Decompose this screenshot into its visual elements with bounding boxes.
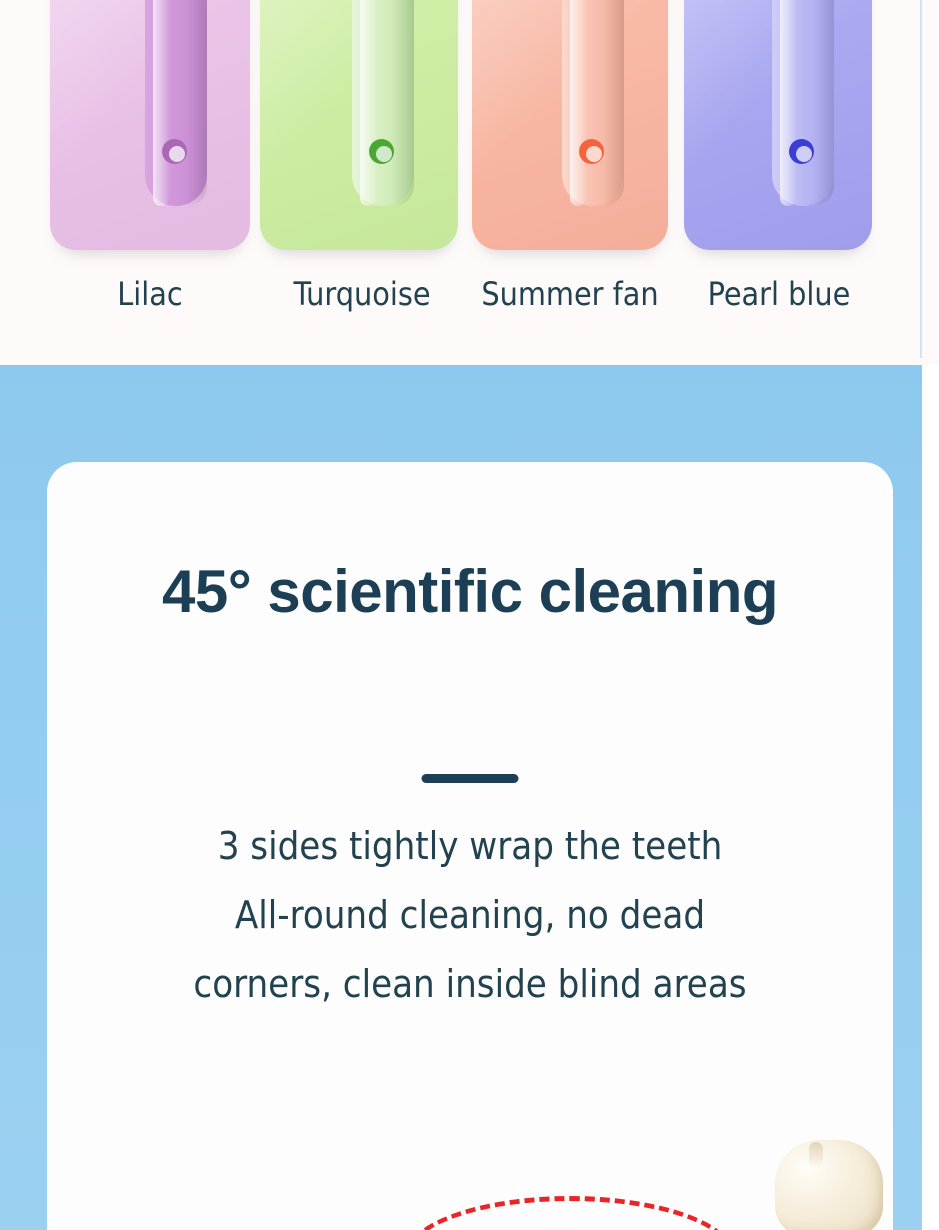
hang-hole <box>789 139 814 164</box>
feature-section: 45° scientific cleaning 3 sides tightly … <box>0 365 939 1230</box>
color-label-turquoise: Turquoise <box>258 272 466 316</box>
feature-card: 45° scientific cleaning 3 sides tightly … <box>47 462 893 1230</box>
handle-highlight <box>153 0 169 206</box>
color-swatch-lilac[interactable]: yalina <box>50 0 250 250</box>
product-photo <box>47 1000 893 1230</box>
color-label-lilac: Lilac <box>50 272 250 316</box>
feature-description: 3 sides tightly wrap the teeth All-round… <box>47 812 893 1019</box>
color-swatch-labels: Lilac Turquoise Summer fan Pearl blue <box>0 272 922 332</box>
color-label-summer-fan: Summer fan <box>468 272 672 316</box>
headline-divider <box>422 774 519 783</box>
hang-hole <box>162 139 187 164</box>
tooth-illustration <box>775 1140 883 1230</box>
toothbrush-handle: yalina <box>562 0 624 206</box>
feature-description-line-1: 3 sides tightly wrap the teeth <box>47 812 893 881</box>
handle-shadow <box>187 0 207 206</box>
handle-shadow <box>814 0 834 206</box>
toothbrush-handle: yalina <box>352 0 414 206</box>
feature-description-line-2: All-round cleaning, no dead <box>47 881 893 950</box>
handle-highlight <box>570 0 586 206</box>
color-swatch-row: yalina yalina yalina <box>0 0 922 270</box>
feature-headline: 45° scientific cleaning <box>47 555 893 629</box>
color-options-section: yalina yalina yalina <box>0 0 939 365</box>
hang-hole <box>369 139 394 164</box>
color-swatch-turquoise[interactable]: yalina <box>260 0 458 250</box>
toothbrush-handle: yalina <box>145 0 207 206</box>
handle-shadow <box>604 0 624 206</box>
handle-highlight <box>780 0 796 206</box>
hang-hole <box>579 139 604 164</box>
toothbrush-handle: yalina <box>772 0 834 206</box>
color-swatch-pearl-blue[interactable]: yalina <box>684 0 872 250</box>
color-label-pearl-blue: Pearl blue <box>680 272 878 316</box>
handle-shadow <box>394 0 414 206</box>
color-swatch-summer-fan[interactable]: yalina <box>472 0 668 250</box>
handle-highlight <box>360 0 376 206</box>
